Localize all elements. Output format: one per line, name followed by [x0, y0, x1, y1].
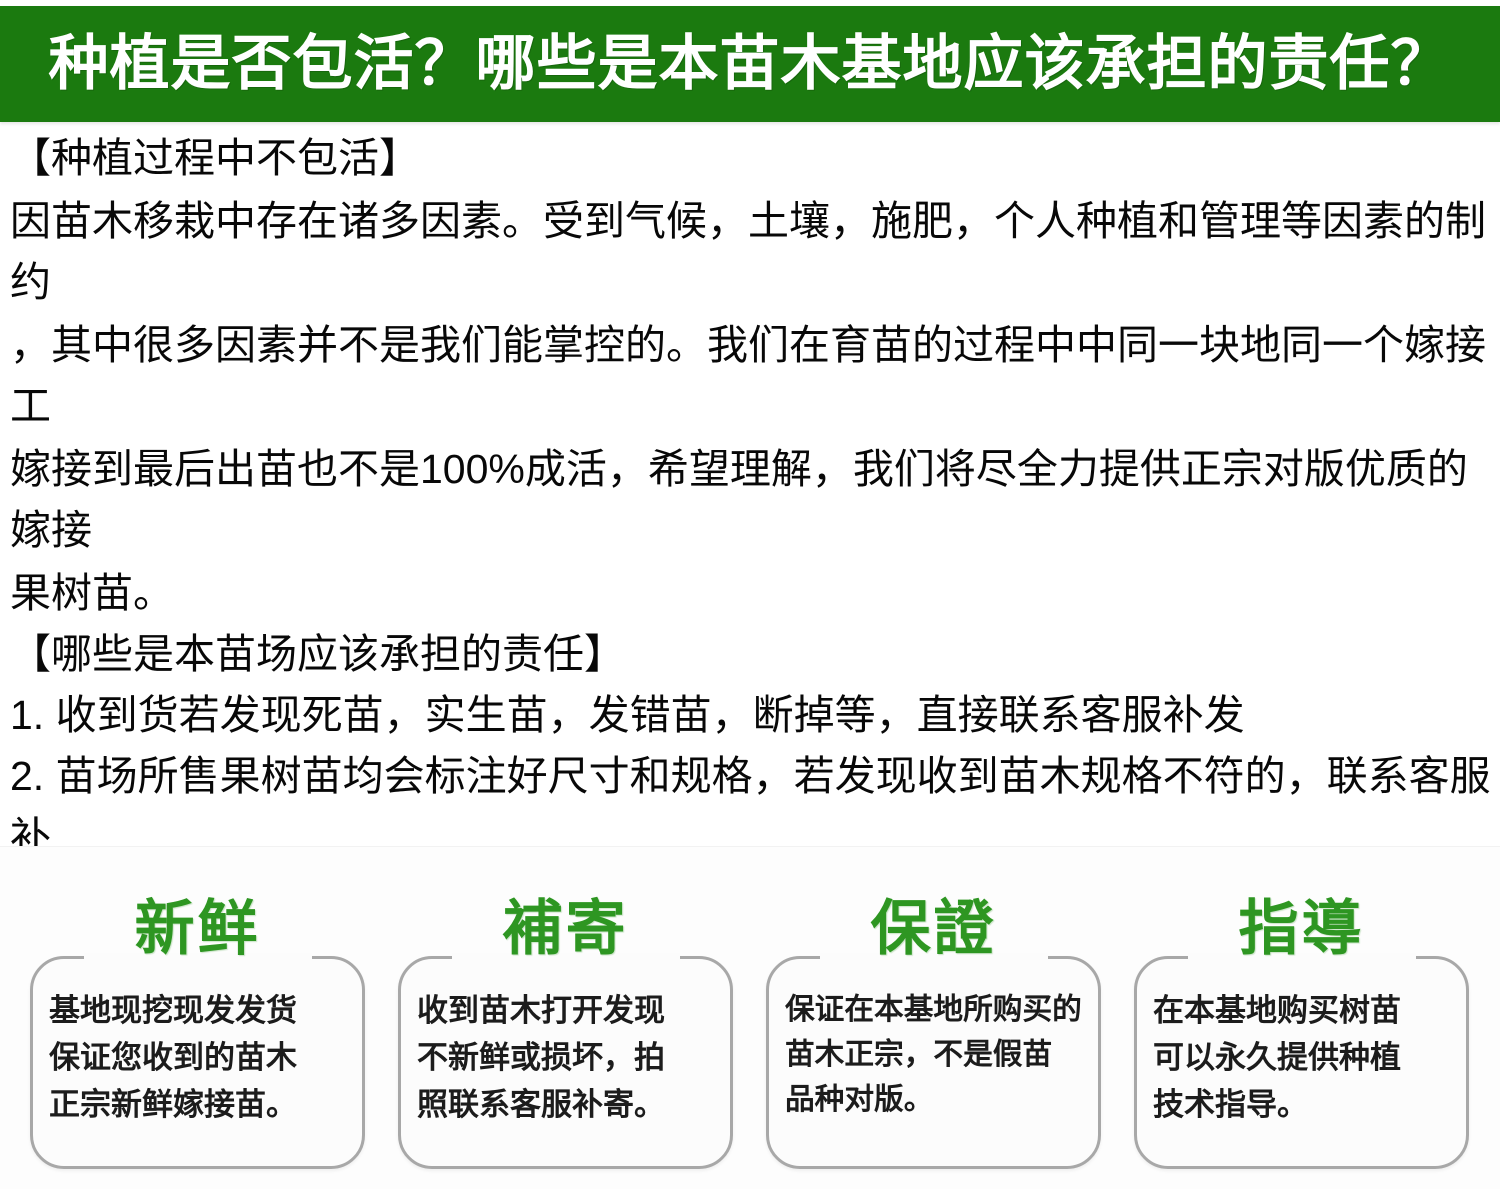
section-heading-responsibilities: 【哪些是本苗场应该承担的责任】	[10, 624, 1492, 685]
card-title: 補寄	[416, 893, 716, 965]
card-body: 基地现挖现发发货 保证您收到的苗木 正宗新鲜嫁接苗。	[33, 987, 362, 1128]
card-body-line: 在本基地购买树苗	[1153, 987, 1450, 1034]
card-body-line: 苗木正宗，不是假苗	[785, 1032, 1082, 1077]
card-title: 新鲜	[48, 893, 348, 965]
card-body-line: 品种对版。	[785, 1077, 1082, 1122]
card-title: 保證	[784, 893, 1084, 965]
card-body-line: 正宗新鲜嫁接苗。	[49, 1081, 346, 1128]
header-banner: 种植是否包活？哪些是本苗木基地应该承担的责任？	[0, 6, 1500, 122]
card-body: 在本基地购买树苗 可以永久提供种植 技术指导。	[1137, 987, 1466, 1128]
guarantee-cards-row: 新鲜 基地现挖现发发货 保证您收到的苗木 正宗新鲜嫁接苗。 補寄 收到苗木打开发…	[30, 887, 1472, 1177]
guarantee-card-fresh: 新鲜 基地现挖现发发货 保证您收到的苗木 正宗新鲜嫁接苗。	[30, 956, 365, 1169]
section-heading-no-guarantee: 【种植过程中不包活】	[10, 128, 1492, 189]
banner-title: 种植是否包活？哪些是本苗木基地应该承担的责任？	[49, 34, 1452, 94]
paragraph-line: 果树苗。	[10, 563, 1492, 624]
card-body: 收到苗木打开发现 不新鲜或损坏，拍 照联系客服补寄。	[401, 987, 730, 1128]
card-body: 保证在本基地所购买的 苗木正宗，不是假苗 品种对版。	[769, 987, 1098, 1122]
card-body-line: 技术指导。	[1153, 1081, 1450, 1128]
guarantee-card-reship: 補寄 收到苗木打开发现 不新鲜或损坏，拍 照联系客服补寄。	[398, 956, 733, 1169]
card-body-line: 可以永久提供种植	[1153, 1034, 1450, 1081]
promo-page: 种植是否包活？哪些是本苗木基地应该承担的责任？ 【种植过程中不包活】 因苗木移栽…	[0, 0, 1500, 1188]
paragraph-line: 嫁接到最后出苗也不是100%成活，希望理解，我们将尽全力提供正宗对版优质的嫁接	[10, 439, 1492, 561]
article-body: 【种植过程中不包活】 因苗木移栽中存在诸多因素。受到气候，土壤，施肥，个人种植和…	[0, 128, 1500, 846]
card-body-line: 基地现挖现发发货	[49, 987, 346, 1034]
paragraph-line: 因苗木移栽中存在诸多因素。受到气候，土壤，施肥，个人种植和管理等因素的制约	[10, 191, 1492, 313]
card-body-line: 收到苗木打开发现	[417, 987, 714, 1034]
card-body-line: 保证在本基地所购买的	[785, 987, 1082, 1032]
guarantee-card-authenticity: 保證 保证在本基地所购买的 苗木正宗，不是假苗 品种对版。	[766, 956, 1101, 1169]
guarantee-card-guidance: 指導 在本基地购买树苗 可以永久提供种植 技术指导。	[1134, 956, 1469, 1169]
card-body-line: 保证您收到的苗木	[49, 1034, 346, 1081]
card-body-line: 不新鲜或损坏，拍	[417, 1034, 714, 1081]
responsibility-item: 1. 收到货若发现死苗，实生苗，发错苗，断掉等，直接联系客服补发	[10, 685, 1492, 746]
card-title: 指導	[1152, 893, 1452, 965]
guarantee-cards-section: 新鲜 基地现挖现发发货 保证您收到的苗木 正宗新鲜嫁接苗。 補寄 收到苗木打开发…	[0, 846, 1500, 1189]
card-body-line: 照联系客服补寄。	[417, 1081, 714, 1128]
paragraph-line: ，其中很多因素并不是我们能掌控的。我们在育苗的过程中中同一块地同一个嫁接工	[10, 315, 1492, 437]
